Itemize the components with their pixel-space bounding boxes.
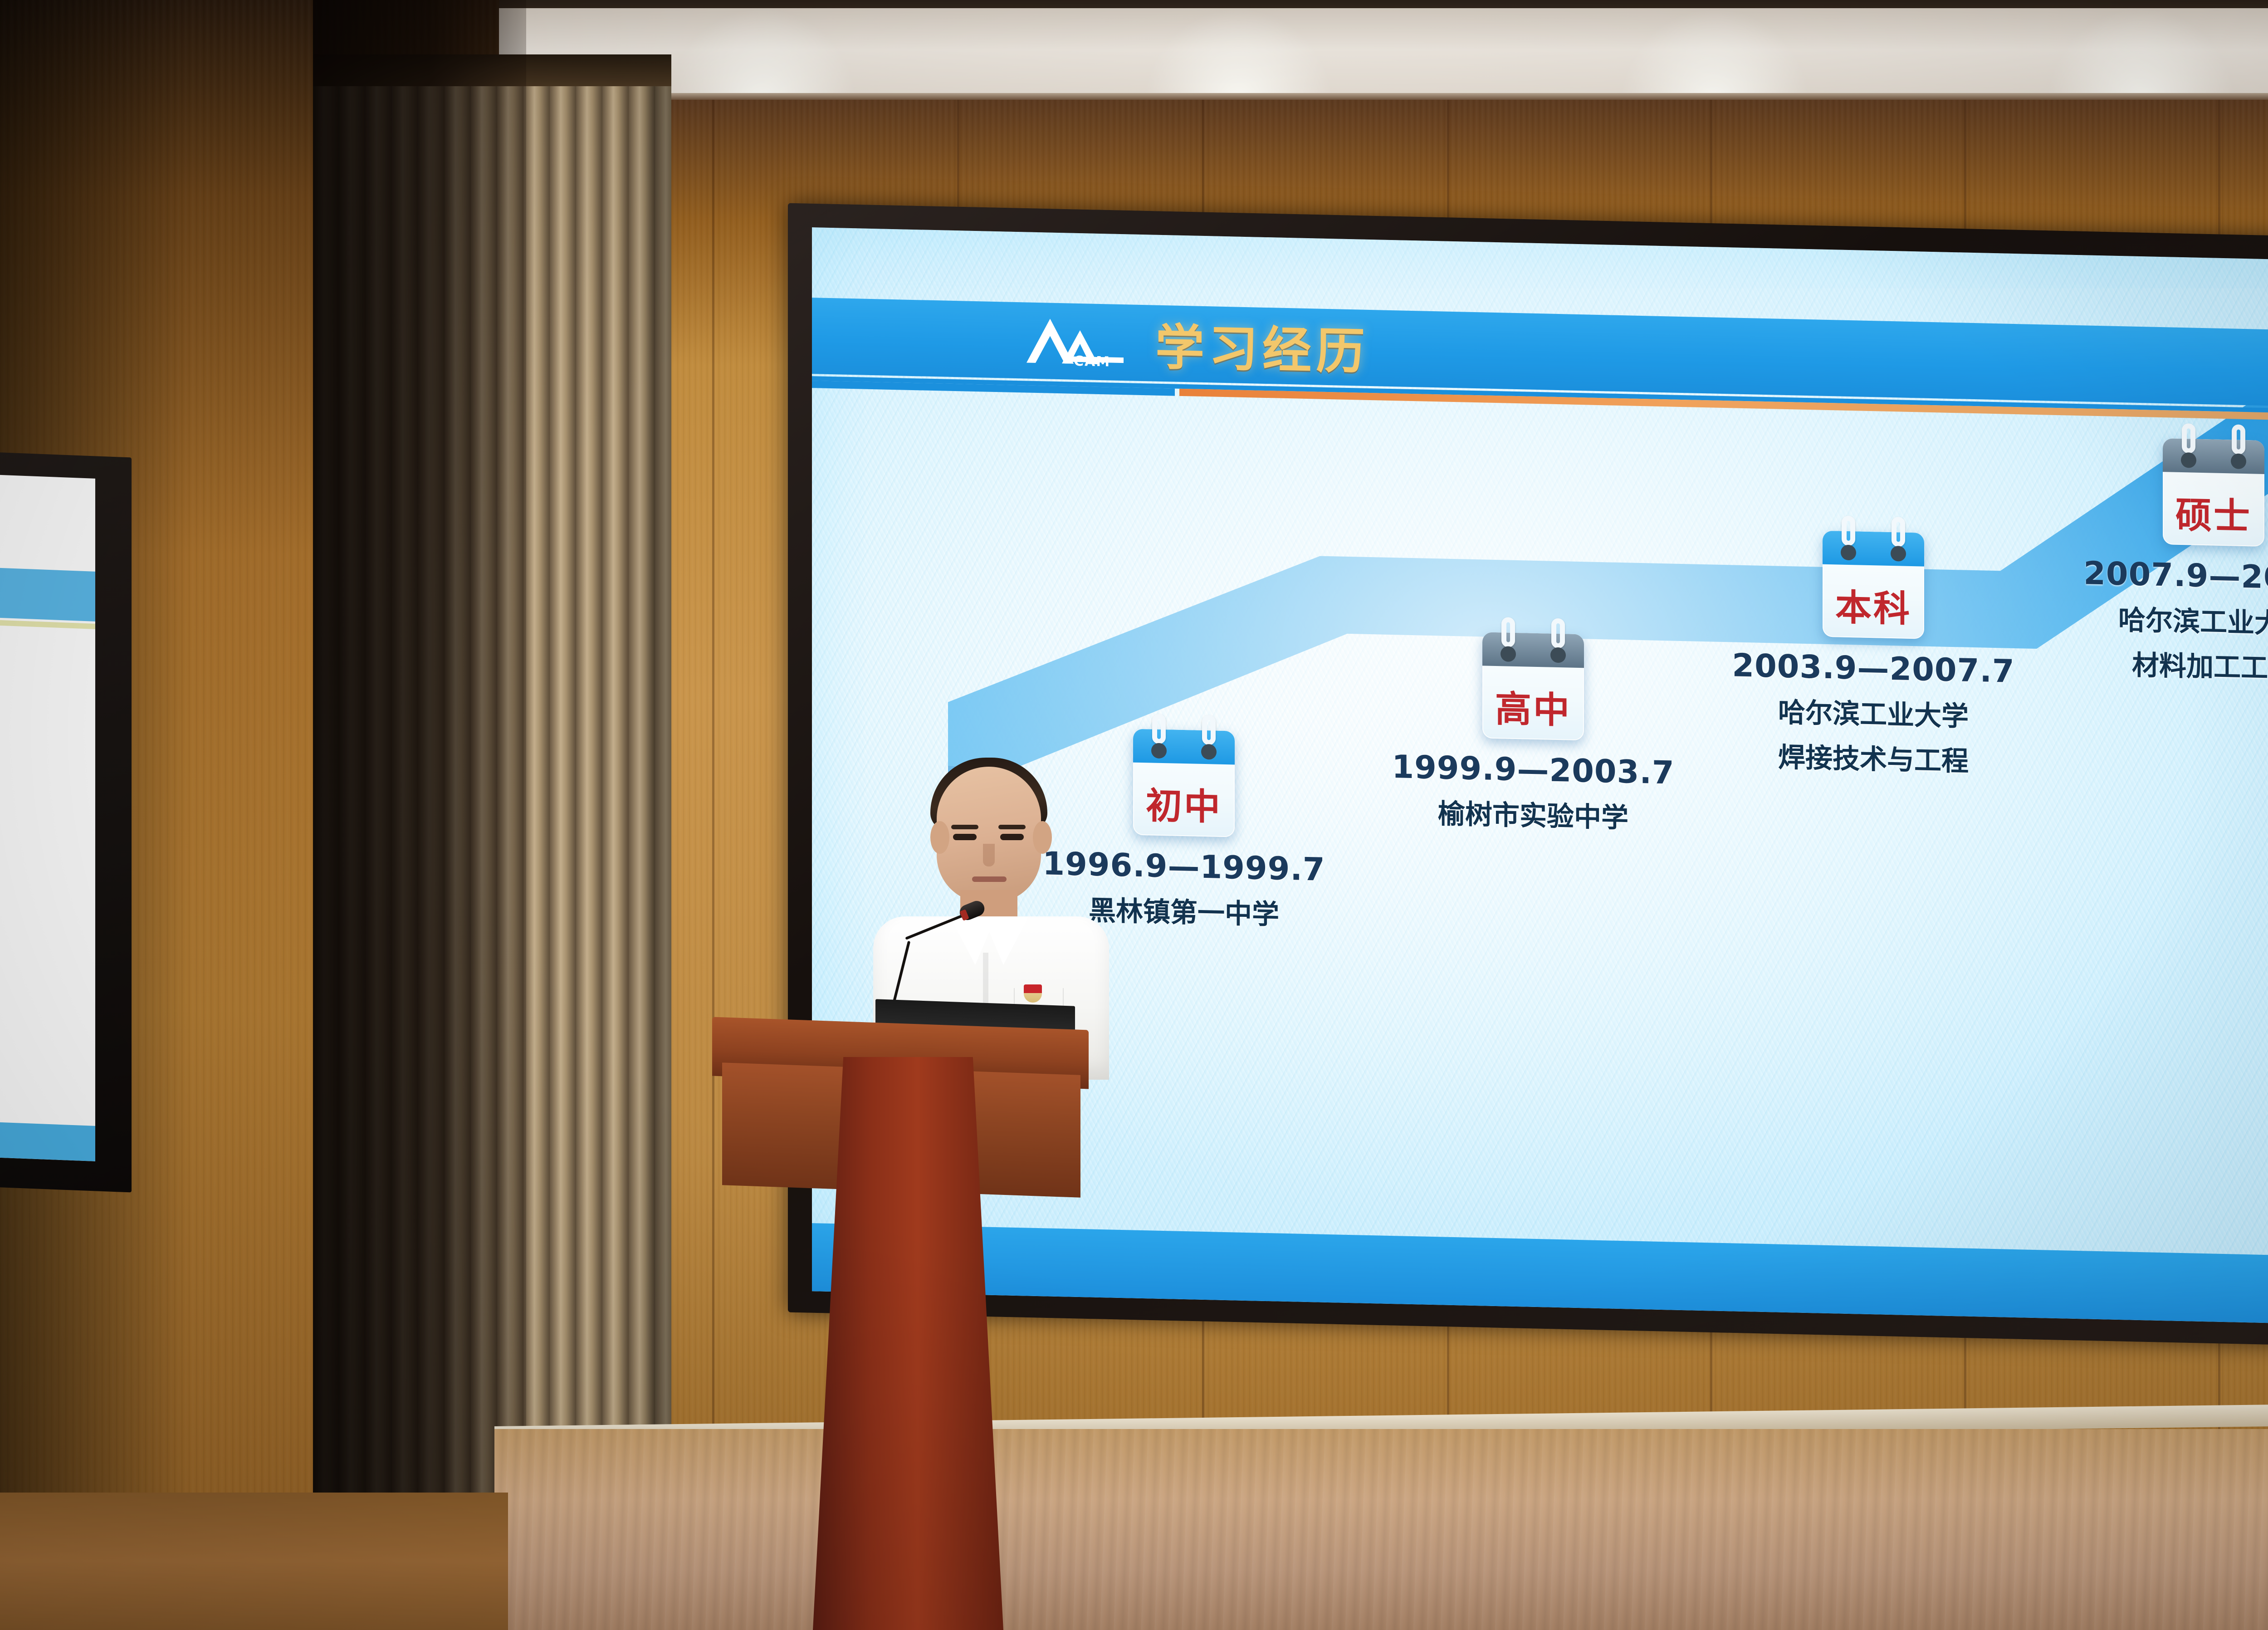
- calendar-icon: 硕士: [2163, 438, 2264, 547]
- speaker-eye-right: [1000, 834, 1024, 840]
- soffit-edge: [494, 93, 2268, 100]
- calendar-icon: 本科: [1823, 531, 1924, 639]
- calendar-icon: 高中: [1482, 632, 1584, 740]
- stage-floor: [494, 1429, 2268, 1630]
- stage-floor-left: [0, 1493, 508, 1630]
- speaker-eyebrow-left: [951, 825, 978, 829]
- side-monitor-bottom-band: [0, 1120, 95, 1161]
- speaker-ear-right: [1033, 821, 1052, 854]
- speaker-nose: [983, 844, 995, 866]
- svg-text:CAM: CAM: [1074, 353, 1110, 370]
- milestone-period: 2003.9—2007.7: [1696, 646, 2050, 691]
- speaker-eyebrow-right: [998, 825, 1026, 829]
- side-monitor-screen: .7 学: [0, 472, 95, 1161]
- milestone-org: 哈尔滨工业大学: [1696, 689, 2050, 736]
- curtain-shadow: [313, 0, 526, 1630]
- milestone-major: 焊接技术与工程: [1696, 734, 2050, 781]
- podium-column: [813, 1057, 1003, 1630]
- milestone-org: 榆树市实验中学: [1356, 790, 1710, 837]
- milestone-item: 硕士 2007.9—2009. 哈尔滨工业大学 材料加工工程: [2037, 436, 2268, 688]
- milestone-period: 1999.9—2003.7: [1356, 747, 1710, 792]
- milestone-item: 本科 2003.9—2007.7 哈尔滨工业大学 焊接技术与工程: [1696, 528, 2050, 781]
- milestone-stage: 初中: [1133, 776, 1235, 831]
- cam-mountain-logo-icon: CAM: [1023, 313, 1127, 369]
- auditorium-scene: CAM 学习经历 初中 1996.9—1999.7 黑林镇第一中学: [0, 0, 2268, 1630]
- milestone-item: 高中 1999.9—2003.7 榆树市实验中学: [1356, 629, 1710, 837]
- milestone-major: 材料加工工程: [2037, 641, 2268, 688]
- milestone-stage: 硕士: [2163, 485, 2264, 540]
- slide-title: 学习经历: [1155, 308, 1369, 383]
- milestone-org: 哈尔滨工业大学: [2037, 596, 2268, 643]
- calendar-icon: 初中: [1133, 729, 1235, 837]
- side-monitor-title-bar: [0, 565, 95, 622]
- speaker-eye-left: [953, 834, 977, 840]
- milestone-stage: 高中: [1482, 679, 1584, 734]
- milestone-stage: 本科: [1823, 578, 1924, 633]
- speaker-head: [937, 767, 1041, 903]
- ceiling-soffit: [494, 8, 2268, 101]
- party-emblem-badge-icon: [1024, 984, 1042, 1003]
- speaker-mouth: [972, 876, 1007, 882]
- milestone-period: 2007.9—2009.: [2037, 553, 2268, 598]
- speaker-ear-left: [930, 821, 949, 854]
